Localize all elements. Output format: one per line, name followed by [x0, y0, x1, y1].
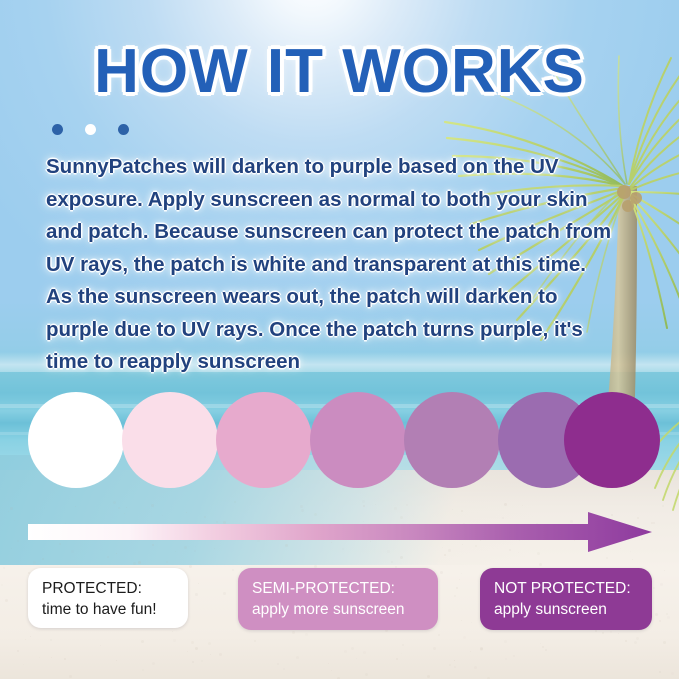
sand-speck [406, 504, 408, 506]
sand-speck [537, 552, 540, 555]
swatch-3-light-pink [216, 392, 312, 488]
how-it-works-infographic: HOW IT WORKS SunnyPatches will darken to… [0, 0, 679, 679]
sand-speck [504, 640, 507, 643]
sand-speck [64, 658, 66, 660]
sand-speck [433, 647, 436, 650]
swatch-4-pink-mauve [310, 392, 406, 488]
sand-speck [363, 651, 366, 654]
sand-speck [116, 660, 117, 661]
sand-speck [365, 673, 368, 676]
sand-speck [107, 556, 109, 558]
sand-speck [25, 639, 26, 640]
sand-speck [152, 662, 155, 665]
sand-speck [505, 658, 507, 660]
swatch-2-pale-pink [122, 392, 218, 488]
legend-not-protected-subtitle: apply sunscreen [494, 599, 652, 620]
sand-speck [331, 670, 332, 671]
sand-speck [187, 651, 188, 652]
sand-speck [470, 651, 471, 652]
sand-speck [454, 660, 455, 661]
sand-speck [328, 663, 329, 664]
sand-speck [113, 501, 116, 504]
sand-speck [400, 556, 403, 559]
legend-row: PROTECTED: time to have fun! SEMI-PROTEC… [0, 568, 679, 634]
sand-speck [201, 660, 203, 662]
sand-speck [234, 501, 236, 503]
sand-speck [452, 509, 453, 510]
sand-speck [166, 561, 168, 563]
sand-speck [116, 553, 117, 554]
uv-progression-arrow [28, 512, 652, 552]
sand-speck [173, 639, 176, 642]
sand-speck [300, 505, 303, 508]
legend-not-protected[interactable]: NOT PROTECTED: apply sunscreen [480, 568, 652, 630]
sand-speck [522, 505, 523, 506]
legend-semi-protected-title: SEMI-PROTECTED: [252, 578, 438, 599]
sand-speck [277, 663, 279, 665]
legend-semi-protected-subtitle: apply more sunscreen [252, 599, 438, 620]
sand-speck [454, 666, 456, 668]
legend-protected[interactable]: PROTECTED: time to have fun! [28, 568, 188, 628]
description-line: UV rays, the patch is white and transpar… [46, 249, 636, 282]
sand-speck [142, 669, 144, 671]
dot-3-icon [118, 124, 129, 135]
sand-speck [100, 645, 101, 646]
sand-speck [344, 650, 347, 653]
sand-speck [283, 668, 285, 670]
sand-speck [51, 657, 52, 658]
sand-speck [30, 636, 31, 637]
dot-1-icon [52, 124, 63, 135]
sand-speck [542, 646, 544, 648]
swatch-7-deep-purple [564, 392, 660, 488]
sand-speck [540, 643, 541, 644]
sand-speck [75, 506, 76, 507]
sand-speck [659, 671, 661, 673]
description-line: As the sunscreen wears out, the patch wi… [46, 281, 636, 314]
swatch-1-white [28, 392, 124, 488]
sand-speck [449, 664, 451, 666]
sand-speck [463, 636, 466, 639]
sand-speck [518, 552, 519, 553]
sand-speck [391, 561, 393, 563]
sand-speck [401, 653, 402, 654]
sand-speck [17, 540, 19, 542]
sand-speck [138, 561, 141, 564]
sand-speck [539, 563, 542, 566]
sand-speck [636, 637, 639, 640]
sand-speck [662, 505, 664, 507]
sand-speck [219, 653, 222, 656]
description-line: SunnyPatches will darken to purple based… [46, 151, 636, 184]
sand-speck [14, 520, 15, 521]
sand-speck [663, 641, 666, 644]
sand-speck [141, 640, 144, 643]
legend-protected-subtitle: time to have fun! [42, 599, 188, 620]
page-title: HOW IT WORKS [0, 36, 679, 107]
sand-speck [632, 559, 633, 560]
sand-speck [23, 664, 24, 665]
sand-speck [504, 503, 507, 506]
uv-color-scale [0, 392, 679, 488]
sand-speck [351, 647, 354, 650]
swatch-5-mauve [404, 392, 500, 488]
sand-speck [42, 558, 44, 560]
sand-speck [118, 507, 120, 509]
sand-speck [438, 634, 440, 636]
sand-speck [671, 672, 674, 675]
sand-speck [606, 557, 608, 559]
sand-speck [513, 655, 515, 657]
sand-speck [50, 639, 52, 641]
sand-speck [634, 641, 637, 644]
sand-speck [254, 640, 256, 642]
sand-speck [444, 554, 446, 556]
sand-speck [625, 640, 627, 642]
sand-speck [296, 656, 299, 659]
sand-speck [375, 504, 376, 505]
sand-speck [192, 661, 194, 663]
sand-speck [69, 675, 72, 678]
sand-speck [653, 522, 655, 524]
description-line: and patch. Because sunscreen can protect… [46, 216, 636, 249]
description-line: exposure. Apply sunscreen as normal to b… [46, 184, 636, 217]
sand-speck [10, 507, 13, 510]
sand-speck [39, 657, 40, 658]
sand-speck [356, 658, 357, 659]
decorative-dots [52, 124, 129, 135]
sand-speck [208, 642, 211, 645]
legend-not-protected-title: NOT PROTECTED: [494, 578, 652, 599]
sand-speck [33, 561, 36, 564]
sand-speck [402, 644, 404, 646]
sand-speck [133, 562, 136, 565]
sand-speck [545, 649, 547, 651]
legend-protected-title: PROTECTED: [42, 578, 188, 599]
sand-speck [151, 504, 154, 507]
sand-speck [11, 548, 12, 549]
sand-speck [191, 641, 194, 644]
sand-speck [362, 500, 365, 503]
sand-speck [427, 675, 430, 678]
sand-speck [8, 511, 9, 512]
description-line: purple due to UV rays. Once the patch tu… [46, 314, 636, 347]
sand-speck [474, 666, 477, 669]
sand-speck [480, 647, 483, 650]
dot-2-icon [85, 124, 96, 135]
legend-semi-protected[interactable]: SEMI-PROTECTED: apply more sunscreen [238, 568, 438, 630]
sand-speck [126, 507, 127, 508]
sand-speck [17, 650, 19, 652]
sand-speck [396, 658, 398, 660]
description-paragraph: SunnyPatches will darken to purple based… [46, 151, 636, 379]
sand-speck [195, 647, 198, 650]
description-line: time to reapply sunscreen [46, 346, 636, 379]
sand-speck [210, 654, 211, 655]
sand-speck [363, 505, 365, 507]
sand-speck [394, 507, 397, 510]
